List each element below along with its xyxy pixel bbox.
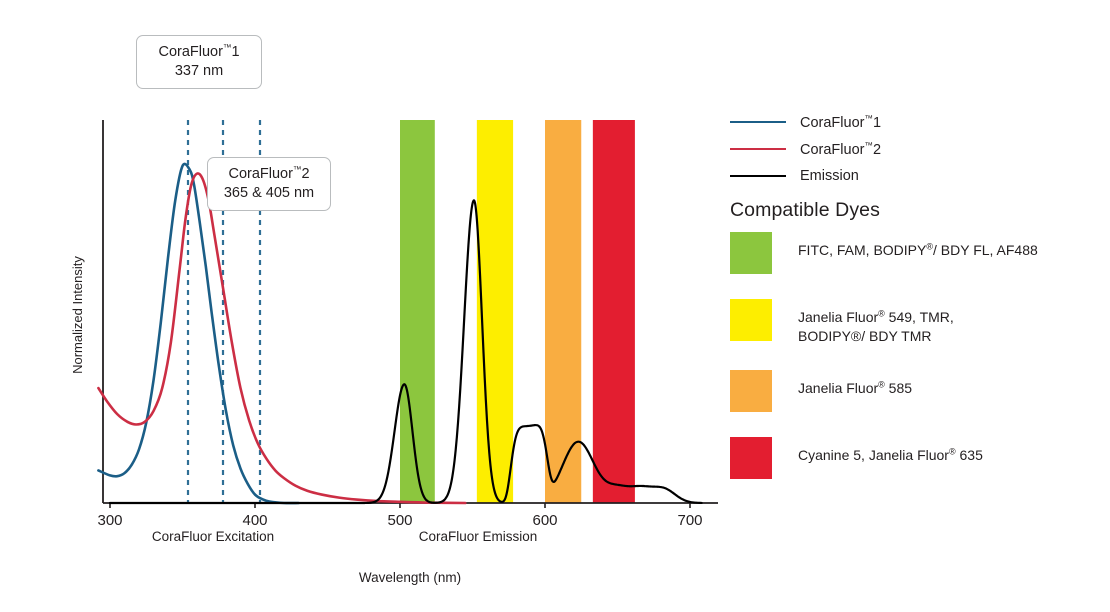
legend-label-suffix: 2 [873,141,881,157]
legend-corafluor2: CoraFluor™2 [730,135,1110,162]
figure-root: 300400500600700CoraFluor ExcitationCoraF… [0,0,1110,612]
dye-red-swatch [730,437,772,479]
dye-name-suffix: 585 [885,380,912,396]
spectra-chart: 300400500600700CoraFluor ExcitationCoraF… [0,0,730,612]
dye-name-suffix: 549, TMR, [885,309,954,325]
dye-name-suffix: / BDY FL, AF488 [933,242,1038,258]
compatible-dyes-title: Compatible Dyes [730,199,880,222]
legend-corafluor2-label: CoraFluor™2 [800,140,881,158]
legend-label-suffix: 1 [873,114,881,130]
legend-corafluor1-line-swatch [730,121,786,123]
legend-emission-label: Emission [800,168,859,184]
dye-label-line2: BODIPY®/ BDY TMR [798,327,954,346]
x-tick-label-400: 400 [242,512,267,529]
dye-yellow-row: Janelia Fluor® 549, TMR,BODIPY®/ BDY TMR [730,299,1110,345]
callout-line2: 365 & 405 nm [218,184,320,203]
dye-yellow-label: Janelia Fluor® 549, TMR,BODIPY®/ BDY TMR [798,299,954,345]
dye-green-row: FITC, FAM, BODIPY®/ BDY FL, AF488 [730,232,1110,274]
dye-yellow-swatch [730,299,772,341]
emission-caption: CoraFluor Emission [419,529,538,544]
dye-name-text: Cyanine 5, Janelia Fluor [798,447,949,463]
dye-green-swatch [730,232,772,274]
dye-name-text: Janelia Fluor [798,309,878,325]
plot-svg: 300400500600700CoraFluor ExcitationCoraF… [0,0,730,612]
callout-line1: CoraFluor™1 [158,44,239,60]
dye-red-row: Cyanine 5, Janelia Fluor® 635 [730,437,1110,479]
dye-name-text: FITC, FAM, BODIPY [798,242,926,258]
dye-name-text: Janelia Fluor [798,380,878,396]
corafluor1-callout: CoraFluor™1 337 nm [136,35,262,89]
dye-red-label: Cyanine 5, Janelia Fluor® 635 [798,437,983,465]
x-axis-title: Wavelength (nm) [359,570,461,585]
legend-panel: CoraFluor™1CoraFluor™2Emission Compatibl… [730,0,1110,612]
legend-emission: Emission [730,162,1110,189]
red-band [593,120,635,503]
registered-glyph: ® [878,379,885,389]
dye-label-line1: FITC, FAM, BODIPY®/ BDY FL, AF488 [798,242,1038,258]
legend-emission-line-swatch [730,175,786,177]
x-tick-label-600: 600 [532,512,557,529]
dye-band-group [400,120,635,503]
registered-glyph: ® [949,446,956,456]
trademark-glyph: ™ [864,113,873,123]
y-axis-title: Normalized Intensity [70,256,85,374]
legend-label-text: CoraFluor [800,114,864,130]
callout-line2: 337 nm [147,62,251,81]
dye-orange-swatch [730,370,772,412]
x-tick-label-300: 300 [97,512,122,529]
dye-orange-row: Janelia Fluor® 585 [730,370,1110,412]
legend-corafluor1-label: CoraFluor™1 [800,113,881,131]
curve-excitation-1b5e87 [98,164,298,503]
dye-green-label: FITC, FAM, BODIPY®/ BDY FL, AF488 [798,232,1038,260]
dye-label-line1: Janelia Fluor® 549, TMR, [798,309,954,325]
compatible-dyes-list: FITC, FAM, BODIPY®/ BDY FL, AF488Janelia… [730,232,1110,504]
legend-corafluor2-line-swatch [730,148,786,150]
x-tick-label-700: 700 [677,512,702,529]
dye-label-line1: Janelia Fluor® 585 [798,380,912,396]
x-tick-label-500: 500 [387,512,412,529]
orange-band [545,120,581,503]
excitation-caption: CoraFluor Excitation [152,529,274,544]
registered-glyph: ® [878,308,885,318]
dye-orange-label: Janelia Fluor® 585 [798,370,912,398]
legend-label-text: CoraFluor [800,141,864,157]
registered-glyph: ® [926,241,933,251]
series-legend: CoraFluor™1CoraFluor™2Emission [730,108,1110,189]
trademark-glyph: ™ [864,140,873,150]
dye-name-suffix: 635 [956,447,983,463]
corafluor2-callout: CoraFluor™2 365 & 405 nm [207,157,331,211]
legend-corafluor1: CoraFluor™1 [730,108,1110,135]
dye-label-line1: Cyanine 5, Janelia Fluor® 635 [798,447,983,463]
callout-line1: CoraFluor™2 [228,166,309,182]
green-band [400,120,435,503]
